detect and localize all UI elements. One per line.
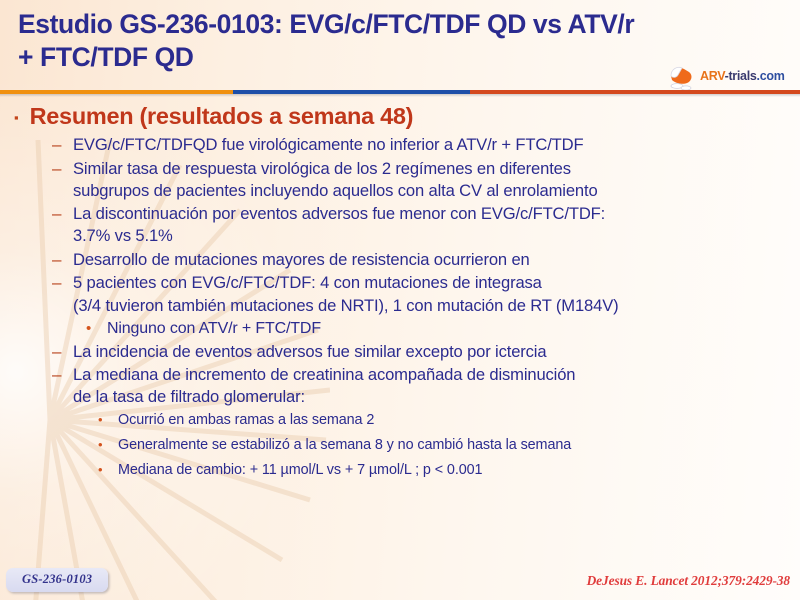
bullet-item: –Desarrollo de mutaciones mayores de res…	[0, 249, 800, 271]
logo-text-com: .com	[757, 69, 785, 83]
arv-trials-logo[interactable]: ARV-trials.com	[664, 63, 792, 93]
dash-bullet-icon: –	[52, 134, 73, 156]
divider-shadow	[0, 94, 800, 97]
dot-bullet-icon: •	[98, 435, 118, 455]
bullet-item: –La discontinuación por eventos adversos…	[0, 203, 800, 248]
logo-text-trials: -trials	[725, 69, 757, 83]
bullet-text: EVG/c/FTC/TDFQD fue virológicamente no i…	[73, 134, 583, 156]
bullet-text: Generalmente se estabilizó a la semana 8…	[118, 435, 571, 455]
bullet-item: –5 pacientes con EVG/c/FTC/TDF: 4 con mu…	[0, 272, 800, 317]
bullet-text: Mediana de cambio: + 11 µmol/L vs + 7 µm…	[118, 460, 482, 480]
bullet-text: Desarrollo de mutaciones mayores de resi…	[73, 249, 530, 271]
bullet-item: •Mediana de cambio: + 11 µmol/L vs + 7 µ…	[0, 460, 800, 480]
dash-bullet-icon: –	[52, 341, 73, 363]
page-title: Estudio GS-236-0103: EVG/c/FTC/TDF QD vs…	[18, 8, 738, 75]
bullet-text: La discontinuación por eventos adversos …	[73, 203, 605, 248]
bullet-text: La mediana de incremento de creatinina a…	[73, 364, 575, 409]
bullet-text: 5 pacientes con EVG/c/FTC/TDF: 4 con mut…	[73, 272, 619, 317]
bullet-item: –La incidencia de eventos adversos fue s…	[0, 341, 800, 363]
pill-capsule-icon	[664, 63, 704, 91]
dash-bullet-icon: –	[52, 249, 73, 271]
bullet-text: Similar tasa de respuesta virológica de …	[73, 158, 598, 203]
bullet-text: Ocurrió en ambas ramas a las semana 2	[118, 410, 374, 430]
bullet-text: La incidencia de eventos adversos fue si…	[73, 341, 546, 363]
logo-text-arv: ARV	[700, 69, 725, 83]
bullet-item: •Ocurrió en ambas ramas a las semana 2	[0, 410, 800, 430]
dash-bullet-icon: –	[52, 158, 73, 180]
title-block: Estudio GS-236-0103: EVG/c/FTC/TDF QD vs…	[18, 8, 738, 75]
bullet-item: •Generalmente se estabilizó a la semana …	[0, 435, 800, 455]
bullet-list: –EVG/c/FTC/TDFQD fue virológicamente no …	[0, 134, 800, 480]
citation-reference: DeJesus E. Lancet 2012;379:2429-38	[587, 573, 790, 589]
bullet-item: –EVG/c/FTC/TDFQD fue virológicamente no …	[0, 134, 800, 156]
dash-bullet-icon: –	[52, 203, 73, 225]
dot-bullet-icon: •	[86, 318, 107, 339]
square-bullet-icon: ▪	[14, 111, 19, 124]
logo-wordmark: ARV-trials.com	[700, 69, 785, 83]
bullet-item: –Similar tasa de respuesta virológica de…	[0, 158, 800, 203]
bullet-item: •Ninguno con ATV/r + FTC/TDF	[0, 318, 800, 340]
bullet-item: –La mediana de incremento de creatinina …	[0, 364, 800, 409]
slide-content: ▪ Resumen (resultados a semana 48) –EVG/…	[0, 101, 800, 485]
dot-bullet-icon: •	[98, 460, 118, 480]
section-heading-resumen: ▪ Resumen (resultados a semana 48)	[0, 101, 800, 131]
dot-bullet-icon: •	[98, 410, 118, 430]
dash-bullet-icon: –	[52, 364, 73, 386]
bullet-text: Ninguno con ATV/r + FTC/TDF	[107, 318, 321, 340]
study-id-badge: GS-236-0103	[6, 568, 108, 592]
dash-bullet-icon: –	[52, 272, 73, 294]
slide-canvas: Estudio GS-236-0103: EVG/c/FTC/TDF QD vs…	[0, 0, 800, 600]
section-heading-label: Resumen (resultados a semana 48)	[30, 101, 414, 131]
